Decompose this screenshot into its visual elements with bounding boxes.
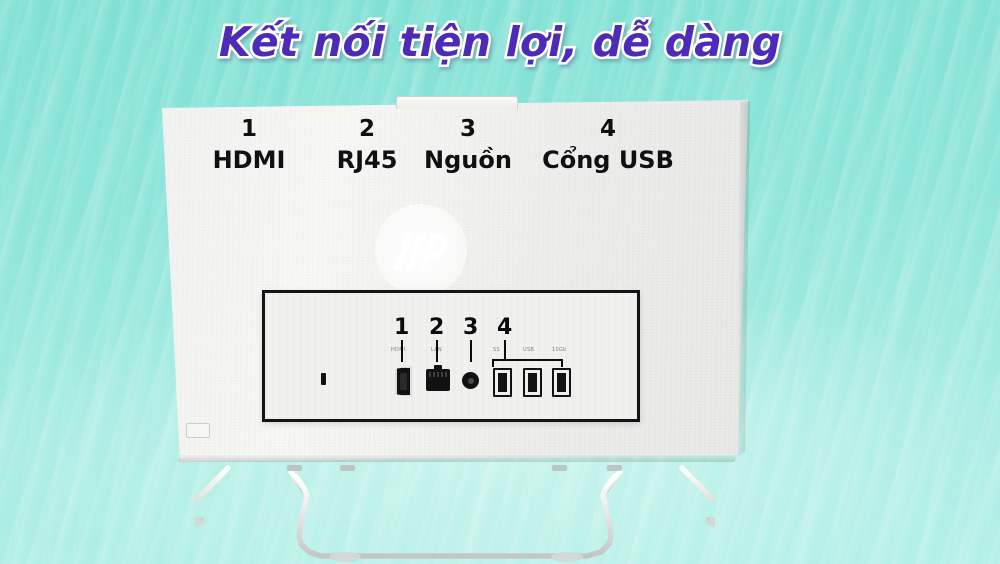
- usb-icon-label-3: 10Gb: [552, 347, 567, 353]
- security-lock-slot: [321, 373, 326, 385]
- leader-line-1: [401, 340, 403, 362]
- usb-port-2-inner: [528, 373, 537, 392]
- usb-icon-label-1: SS: [493, 347, 500, 353]
- port-number-1: 1: [394, 317, 409, 339]
- page-title: Kết nối tiện lợi, dễ dàng: [219, 22, 781, 63]
- usb-port-1: [493, 368, 512, 397]
- leader-line-2: [436, 340, 438, 362]
- pc-bottom-edge: [178, 455, 740, 462]
- leader-bracket-4-right: [561, 359, 563, 367]
- popup-webcam-module: [396, 96, 518, 109]
- ports-detail-panel: 1 2 3 4 HDMI LAN SS USB 10Gb: [262, 290, 640, 422]
- rj45-contacts: [429, 372, 447, 377]
- hdmi-port: [395, 366, 412, 397]
- port-number-2: 2: [429, 317, 444, 339]
- rear-label-mark: [186, 423, 210, 438]
- callout-power-label: Nguồn: [408, 148, 528, 172]
- callout-power: 3 Nguồn: [408, 118, 528, 172]
- leader-bracket-4-left: [492, 359, 494, 367]
- callout-usb-number: 4: [518, 118, 698, 141]
- monitor-stand-wireframe: [195, 452, 715, 564]
- callout-hdmi: 1 HDMI: [194, 118, 304, 172]
- callout-usb: 4 Cổng USB: [518, 118, 698, 172]
- leader-line-3: [470, 340, 472, 362]
- callout-usb-label: Cổng USB: [518, 148, 698, 172]
- callout-power-number: 3: [408, 118, 528, 141]
- hdmi-icon-label: HDMI: [391, 347, 406, 353]
- usb-port-3-inner: [557, 373, 566, 392]
- power-jack: [462, 372, 479, 389]
- leader-bracket-4: [492, 359, 563, 361]
- screenshot-stage: Kết nối tiện lợi, dễ dàng 1 HDMI 2: [0, 0, 1000, 564]
- usb-port-3: [552, 368, 571, 397]
- callout-hdmi-number: 1: [194, 118, 304, 141]
- rj45-ethernet-port: [426, 369, 450, 391]
- callout-rj45-number: 2: [312, 118, 422, 141]
- callout-rj45: 2 RJ45: [312, 118, 422, 172]
- headline-container: Kết nối tiện lợi, dễ dàng: [0, 22, 1000, 63]
- hdmi-port-inner: [400, 373, 407, 390]
- usb-icon-label-2: USB: [523, 347, 534, 353]
- hp-logo: [375, 204, 467, 296]
- callout-rj45-label: RJ45: [312, 148, 422, 172]
- port-number-4: 4: [497, 317, 512, 339]
- usb-port-2: [523, 368, 542, 397]
- hp-logo-glyph: [386, 226, 456, 274]
- usb-port-1-inner: [498, 373, 507, 392]
- power-jack-pin: [468, 378, 474, 384]
- monitor-stand: [195, 452, 715, 564]
- ports-panel-texture: [265, 293, 637, 419]
- leader-line-4: [504, 340, 506, 360]
- rj45-tab: [434, 365, 442, 371]
- callout-hdmi-label: HDMI: [194, 148, 304, 172]
- callout-labels: 1 HDMI 2 RJ45 3 Nguồn 4 Cổng USB: [160, 118, 750, 198]
- port-number-3: 3: [463, 317, 478, 339]
